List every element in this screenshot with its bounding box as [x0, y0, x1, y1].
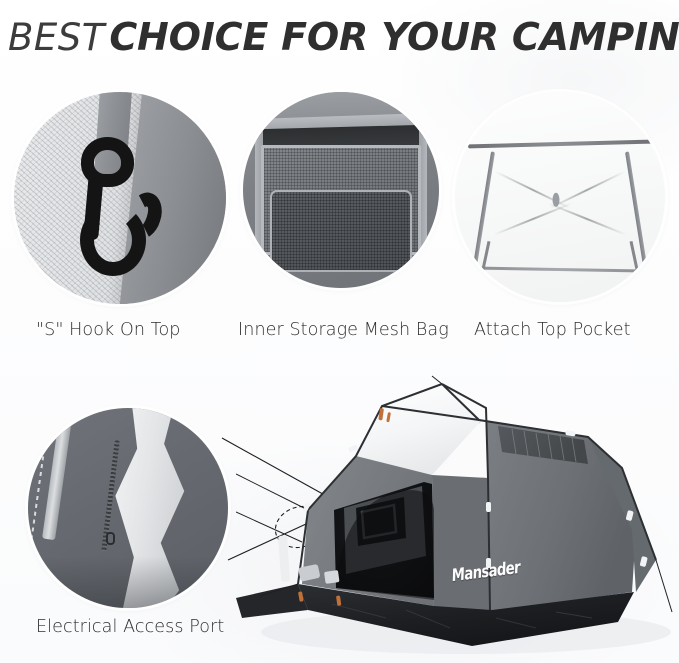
product-image-tent: [236, 360, 679, 660]
headline-light-text: BEST: [8, 16, 105, 59]
feature-image-electrical-port: [28, 408, 228, 608]
tent-floor-left-extension: [236, 584, 308, 618]
s-hook-shape: [78, 137, 163, 277]
feature-image-top-pocket: [455, 92, 665, 302]
page-title: BEST CHOICE FOR YOUR CAMPING TRIP: [8, 18, 676, 56]
feature-label-s-hook: "S" Hook On Top: [36, 320, 181, 340]
feature-label-top-pocket: Attach Top Pocket: [474, 320, 631, 340]
feature-image-s-hook: [14, 92, 226, 304]
ceiling-top-pocket-point: [552, 193, 559, 207]
feature-label-mesh-bag: Inner Storage Mesh Bag: [238, 320, 449, 340]
tent-front-panel: [432, 475, 490, 610]
headline-bold-text: CHOICE FOR YOUR CAMPING TRIP: [109, 15, 679, 59]
feature-label-electrical-port: Electrical Access Port: [36, 617, 224, 637]
feature-image-mesh-bag: [243, 92, 439, 288]
port-zipper-pull: [106, 532, 115, 545]
port-shadow: [28, 556, 228, 608]
infographic-page: BEST CHOICE FOR YOUR CAMPING TRIP: [0, 0, 679, 663]
mesh-inner-pocket: [270, 190, 411, 272]
